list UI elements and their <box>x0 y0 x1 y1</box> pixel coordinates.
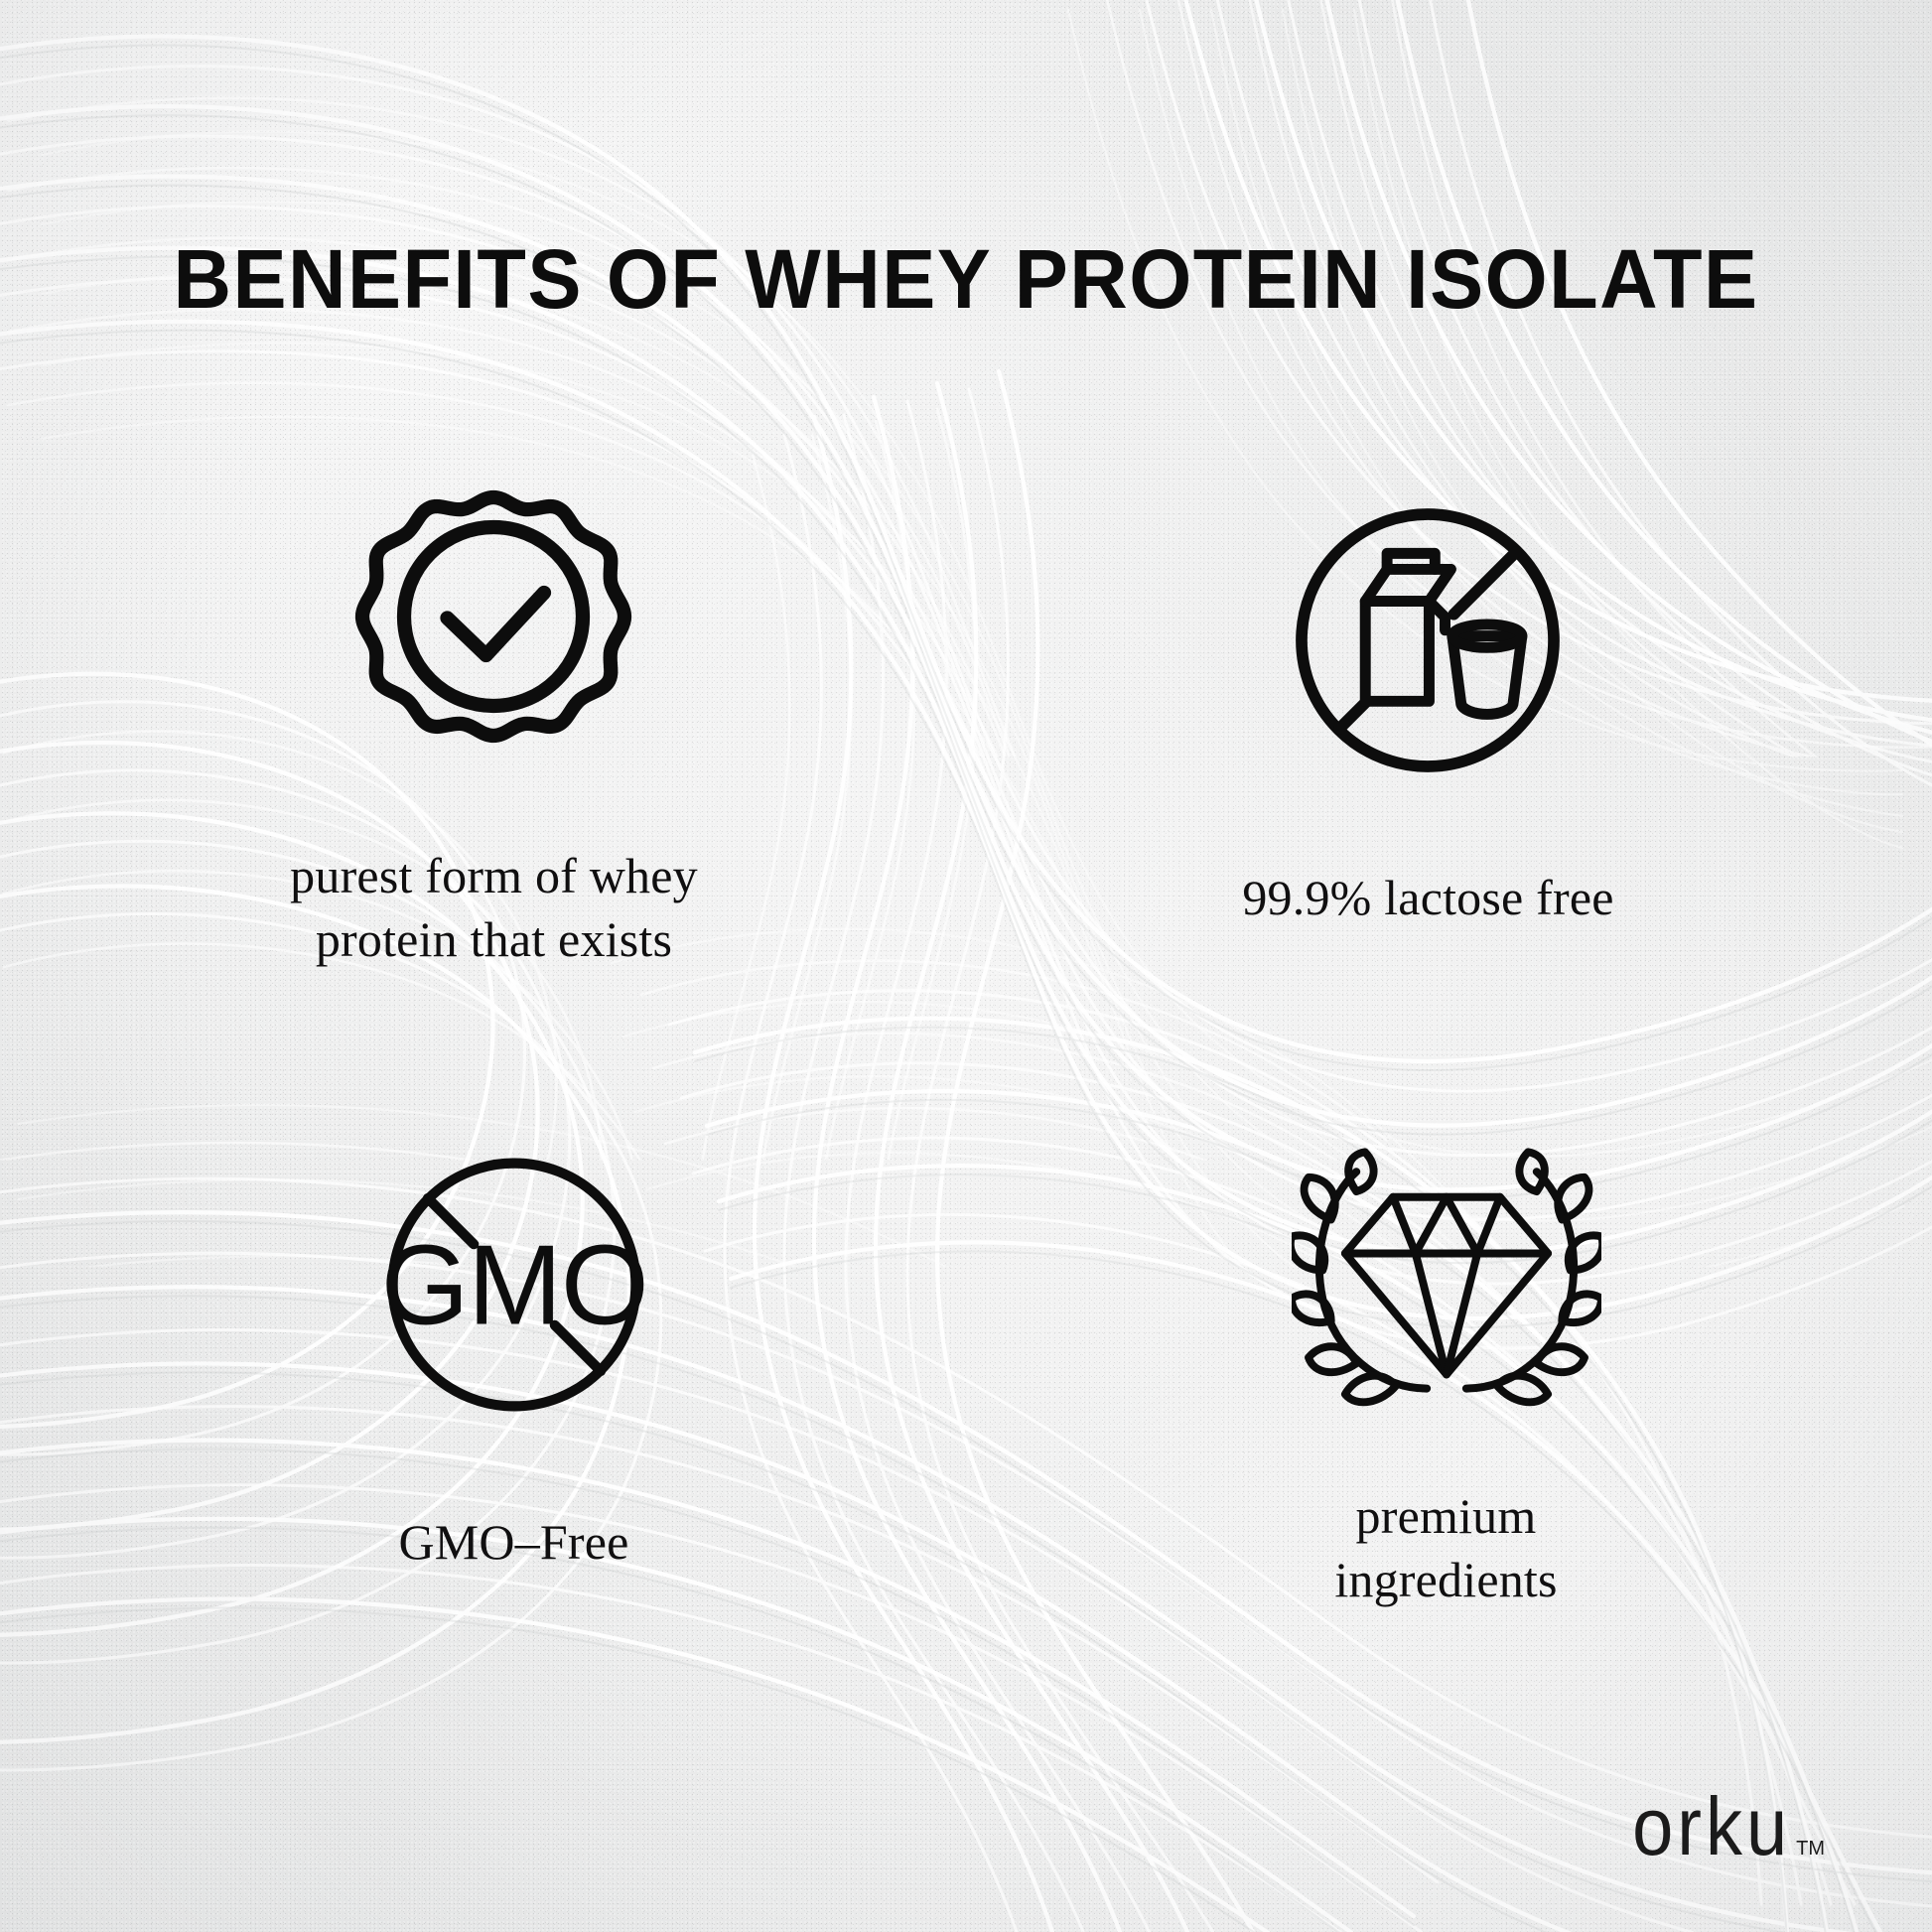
benefit-icon-wrapper-lactose <box>1283 427 1573 804</box>
benefit-caption-premium: premium ingredients <box>1334 1484 1557 1611</box>
benefit-item-lactose: 99.9% lactose free <box>966 427 1837 1057</box>
brand-logo: orku TM <box>1632 1797 1825 1864</box>
benefit-caption-lactose: 99.9% lactose free <box>1242 866 1613 929</box>
benefits-grid: purest form of whey protein that exists <box>95 427 1837 1688</box>
benefit-item-gmo: GMO GMO–Free <box>95 1057 966 1688</box>
benefit-icon-wrapper-premium <box>1292 1057 1601 1443</box>
benefit-icon-wrapper-gmo: GMO <box>379 1057 649 1449</box>
gmo-icon-label: GMO <box>380 1222 647 1348</box>
benefit-item-premium: premium ingredients <box>966 1057 1837 1688</box>
infographic-poster: BENEFITS OF WHEY PROTEIN ISOLATE <box>0 0 1932 1932</box>
no-gmo-icon: GMO <box>379 1150 649 1420</box>
benefit-item-purity: purest form of whey protein that exists <box>95 427 966 1057</box>
benefit-caption-gmo: GMO–Free <box>398 1510 628 1574</box>
brand-wordmark: orku <box>1632 1789 1791 1864</box>
page-title: BENEFITS OF WHEY PROTEIN ISOLATE <box>34 237 1898 321</box>
verified-badge-check-icon <box>345 480 642 777</box>
benefit-icon-wrapper-purity <box>345 427 642 792</box>
benefit-caption-purity: purest form of whey protein that exists <box>290 844 698 971</box>
laurel-diamond-icon <box>1292 1134 1601 1424</box>
trademark-symbol: TM <box>1796 1838 1825 1861</box>
no-dairy-icon <box>1283 495 1573 785</box>
